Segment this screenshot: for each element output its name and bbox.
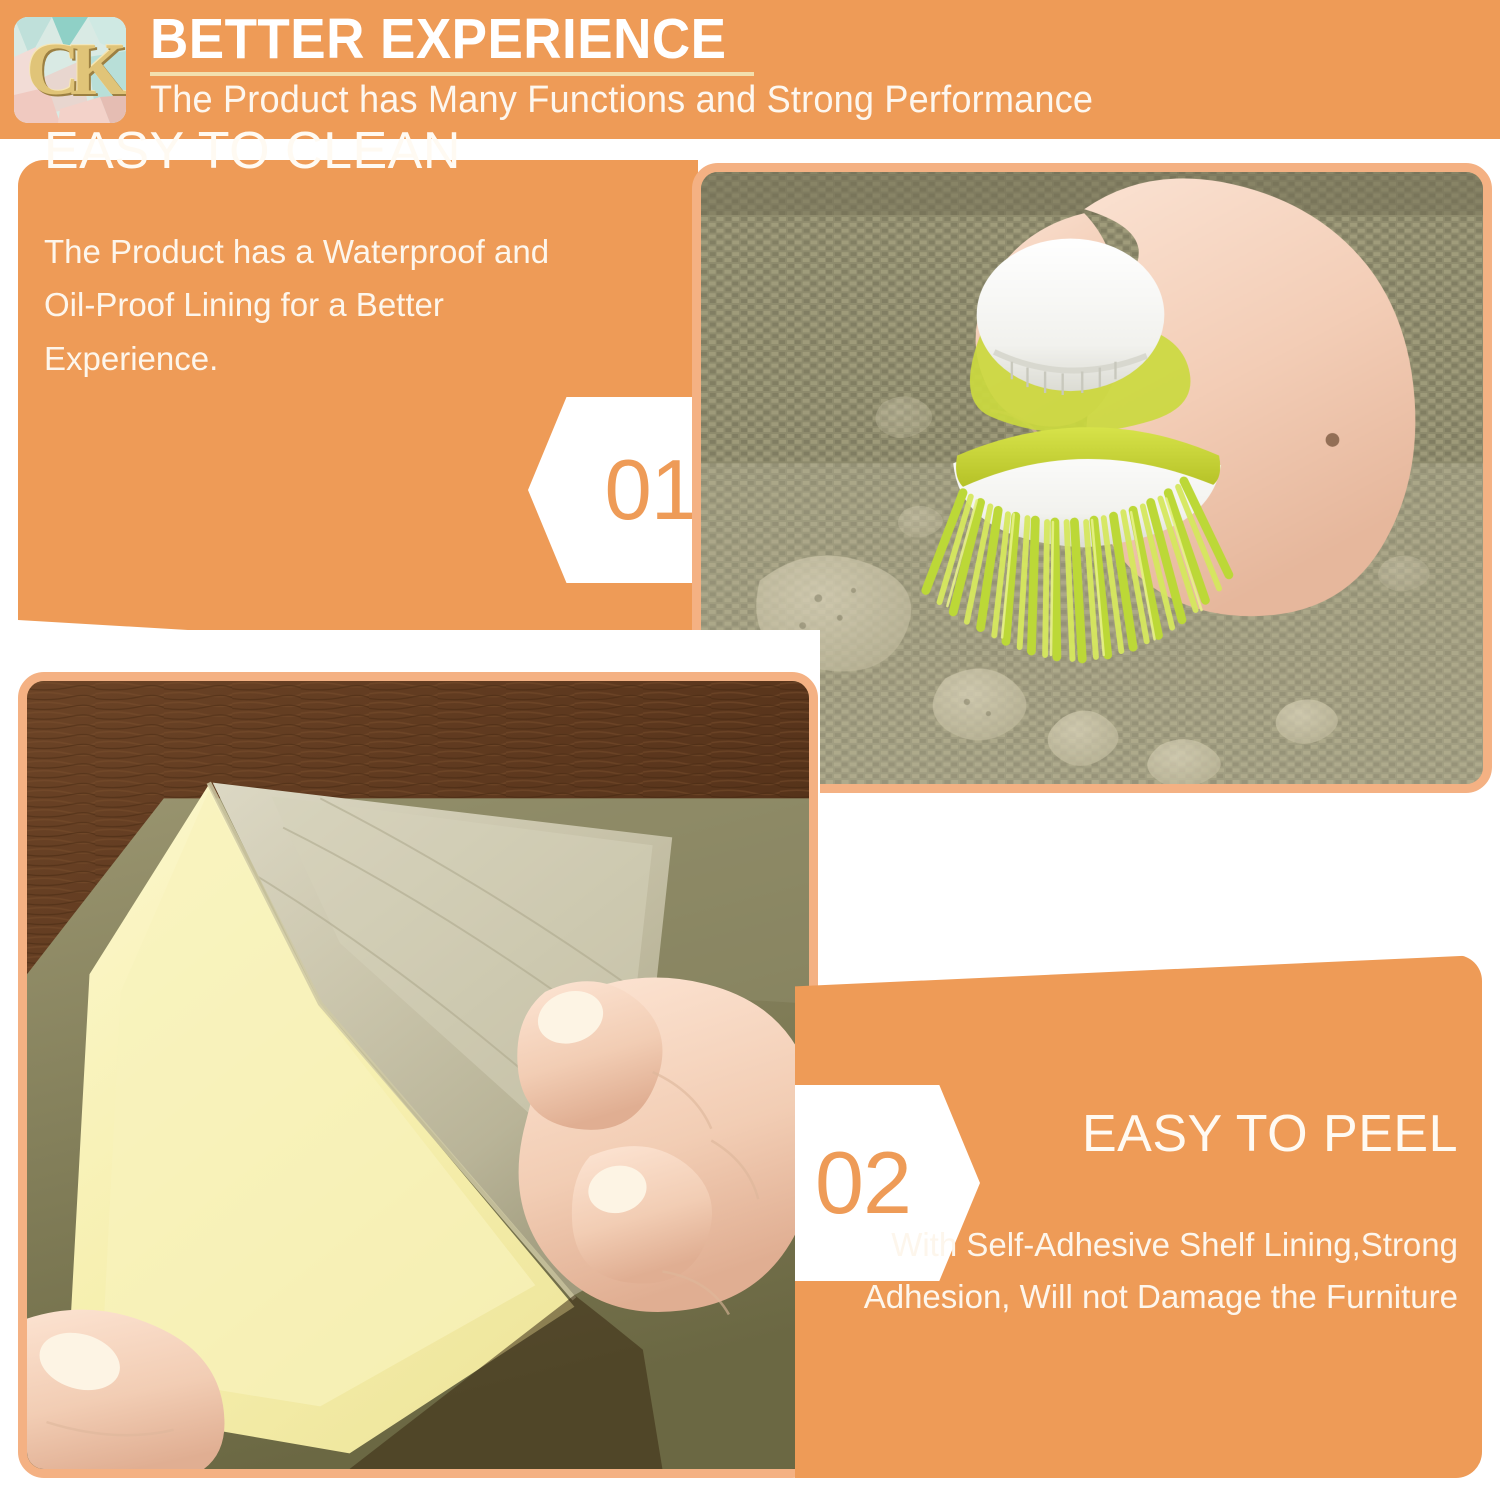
section-02-number: 02	[815, 1139, 911, 1227]
logo-monogram: CK	[14, 17, 126, 123]
brush-cleaning-illustration	[701, 172, 1483, 784]
page-subtitle: The Product has Many Functions and Stron…	[150, 79, 1404, 122]
peel-liner-illustration	[27, 681, 809, 1469]
infographic-canvas: CK BETTER EXPERIENCE The Product has Man…	[0, 0, 1500, 1492]
header-banner: CK BETTER EXPERIENCE The Product has Man…	[0, 0, 1500, 139]
section-01-number: 01	[604, 448, 697, 533]
section-02-title: EASY TO PEEL	[1082, 1104, 1458, 1164]
title-underline	[150, 72, 754, 76]
section-02-body: With Self-Adhesive Shelf Lining,Strong A…	[838, 1219, 1458, 1323]
section-01-title: EASY TO CLEAN	[44, 121, 461, 181]
header-text-block: BETTER EXPERIENCE The Product has Many F…	[150, 10, 1470, 122]
section-02-photo	[18, 672, 818, 1478]
section-01-body: The Product has a Waterproof and Oil-Pro…	[44, 225, 584, 385]
page-title: BETTER EXPERIENCE	[150, 10, 1378, 68]
brand-logo: CK	[14, 17, 126, 123]
